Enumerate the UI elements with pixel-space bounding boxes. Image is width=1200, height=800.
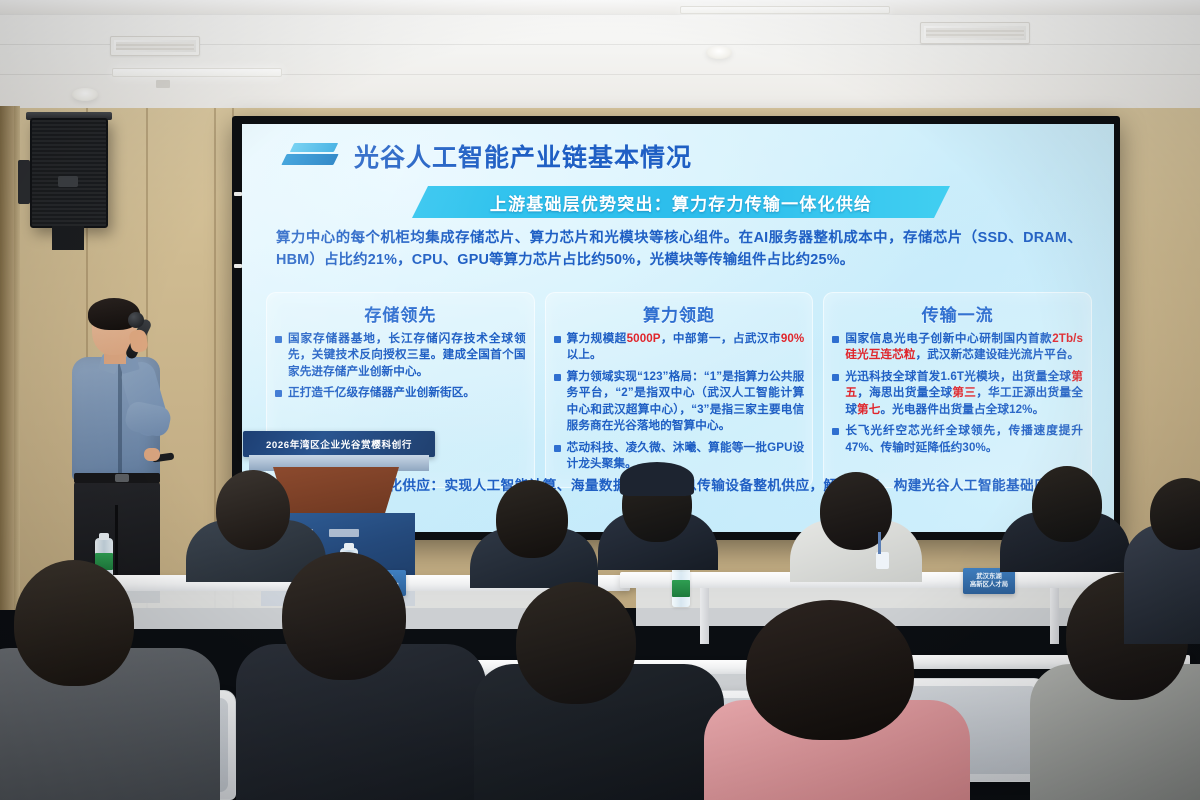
slide-bullet: 国家信息光电子创新中心研制国内首款2Tb/s硅光互连芯粒，武汉新芯建设硅光流片平… bbox=[832, 331, 1083, 364]
slide-lead-paragraph: 算力中心的每个机柜均集成存储芯片、算力芯片和光模块等核心组件。在AI服务器整机成… bbox=[276, 228, 1082, 272]
bullet-square-icon bbox=[554, 374, 561, 381]
highlighted-text: 2Tb/s bbox=[1052, 332, 1083, 345]
slide-bullet-text: 长飞光纤空芯光纤全球领先，传播速度提升47%、传输时延降低约30%。 bbox=[845, 423, 1083, 456]
loudspeaker-bracket bbox=[18, 160, 30, 204]
slide-column: 传输一流国家信息光电子创新中心研制国内首款2Tb/s硅光互连芯粒，武汉新芯建设硅… bbox=[823, 292, 1092, 488]
bullet-square-icon bbox=[832, 374, 839, 381]
loudspeaker-stand bbox=[52, 226, 84, 250]
ceiling-light-strip bbox=[680, 6, 890, 14]
slide-bullet: 算力规模超5000P，中部第一，占武汉市90%以上。 bbox=[554, 331, 805, 364]
podium-top-sign-text: 2026年湾区企业光谷赏樱科创行 bbox=[266, 437, 412, 451]
bullet-text-run: 以上。 bbox=[567, 348, 602, 361]
slide-column-heading: 传输一流 bbox=[832, 301, 1083, 326]
presenter-hand-with-clicker bbox=[144, 448, 160, 461]
bullet-square-icon bbox=[275, 390, 282, 397]
bullet-text-run: ，武汉新芯建设硅光流片平台。 bbox=[916, 348, 1080, 361]
highlighted-text: 第三 bbox=[952, 386, 976, 399]
bullet-text-run: 算力规模超 bbox=[567, 332, 627, 345]
slide-column: 算力领跑算力规模超5000P，中部第一，占武汉市90%以上。算力领域实现“123… bbox=[545, 292, 814, 488]
ceiling-smoke-detector bbox=[156, 80, 170, 88]
slide-bullet-text: 国家信息光电子创新中心研制国内首款2Tb/s硅光互连芯粒，武汉新芯建设硅光流片平… bbox=[845, 331, 1083, 364]
bullet-text-run: ，海思出货量全球 bbox=[857, 386, 952, 399]
slide-bullet-text: 国家存储器基地，长江存储闪存技术全球领先，关键技术反向授权三星。建成全国首个国家… bbox=[288, 331, 526, 380]
arrow-banner-icon bbox=[282, 143, 340, 169]
presenter-belt-buckle bbox=[115, 474, 129, 482]
bullet-square-icon bbox=[554, 336, 561, 343]
bullet-text-run: 算力领域实现“123”格局：“1”是指算力公共服务平台，“2”是指双中心（武汉人… bbox=[567, 370, 805, 432]
screen-clip bbox=[234, 192, 242, 196]
highlighted-text: 第七 bbox=[857, 403, 880, 416]
highlighted-text: 5000P bbox=[627, 332, 661, 345]
bullet-square-icon bbox=[832, 336, 839, 343]
slide-bullet-text: 算力规模超5000P，中部第一，占武汉市90%以上。 bbox=[567, 331, 805, 364]
slide-bullet: 算力领域实现“123”格局：“1”是指算力公共服务平台，“2”是指双中心（武汉人… bbox=[554, 369, 805, 435]
screen-clip bbox=[234, 264, 242, 268]
highlighted-text: 硅光互连芯粒 bbox=[845, 348, 915, 361]
ceiling bbox=[0, 0, 1200, 112]
placard-line-2: 高新区人才局 bbox=[970, 581, 1008, 589]
slide-title: 光谷人工智能产业链基本情况 bbox=[354, 138, 692, 174]
ceiling-downlight bbox=[72, 88, 98, 101]
ac-vent bbox=[920, 22, 1030, 44]
slide-bullet-text: 算力领域实现“123”格局：“1”是指算力公共服务平台，“2”是指双中心（武汉人… bbox=[567, 369, 805, 435]
bullet-text-run: 芯动科技、凌久微、沐曦、算能等一批GPU设计龙头聚集。 bbox=[567, 441, 805, 470]
slide-column-heading: 存储领先 bbox=[275, 301, 526, 326]
slide-column-heading: 算力领跑 bbox=[554, 301, 805, 326]
bullet-square-icon bbox=[554, 445, 561, 452]
bullet-text-run: ，中部第一，占武汉市 bbox=[661, 332, 781, 345]
ac-vent bbox=[110, 36, 200, 56]
bullet-text-run: 光迅科技全球首发1.6T光模块，出货量全球 bbox=[845, 370, 1071, 383]
table-leg bbox=[700, 588, 709, 644]
wall-corner bbox=[0, 106, 14, 610]
placard-line-1: 武汉东湖 bbox=[976, 573, 1002, 581]
bullet-text-run: 。光电器件出货量占全球12%。 bbox=[880, 403, 1044, 416]
slide-bullet: 正打造千亿级存储器产业创新街区。 bbox=[275, 385, 526, 401]
bullet-text-run: 正打造千亿级存储器产业创新街区。 bbox=[288, 386, 475, 399]
bullet-text-run: 长飞光纤空芯光纤全球领先，传播速度提升47%、传输时延降低约30%。 bbox=[845, 424, 1083, 453]
slide-subtitle-text: 上游基础层优势突出：算力存力传输一体化供给 bbox=[490, 190, 872, 215]
loudspeaker bbox=[30, 118, 108, 228]
slide-bullet-text: 光迅科技全球首发1.6T光模块，出货量全球第五，海思出货量全球第三，华工正源出货… bbox=[845, 369, 1083, 418]
slide-subtitle-banner: 上游基础层优势突出：算力存力传输一体化供给 bbox=[412, 186, 950, 218]
ceiling-light-strip bbox=[112, 68, 282, 77]
bullet-text-run: 国家信息光电子创新中心研制国内首款 bbox=[845, 332, 1052, 345]
water-bottle bbox=[672, 565, 690, 607]
ceiling-cove bbox=[0, 0, 1200, 14]
bullet-square-icon bbox=[275, 336, 282, 343]
ceiling-downlight bbox=[706, 46, 732, 59]
bullet-square-icon bbox=[832, 428, 839, 435]
table-leg bbox=[1050, 588, 1059, 644]
conference-photo-scene: 光谷人工智能产业链基本情况 上游基础层优势突出：算力存力传输一体化供给 算力中心… bbox=[0, 0, 1200, 800]
highlighted-text: 90% bbox=[781, 332, 805, 345]
slide-title-row: 光谷人工智能产业链基本情况 bbox=[282, 138, 692, 174]
slide-bullet: 长飞光纤空芯光纤全球领先，传播速度提升47%、传输时延降低约30%。 bbox=[832, 423, 1083, 456]
slide-bullet-text: 正打造千亿级存储器产业创新街区。 bbox=[288, 385, 475, 401]
microphone-capsule bbox=[128, 312, 144, 328]
podium-wood-panel bbox=[273, 467, 399, 517]
loudspeaker-badge bbox=[58, 176, 78, 187]
podium-top-sign: 2026年湾区企业光谷赏樱科创行 bbox=[243, 431, 435, 457]
bullet-text-run: 国家存储器基地，长江存储闪存技术全球领先，关键技术反向授权三星。建成全国首个国家… bbox=[288, 332, 526, 378]
slide-bullet: 光迅科技全球首发1.6T光模块，出货量全球第五，海思出货量全球第三，华工正源出货… bbox=[832, 369, 1083, 418]
slide-bullet: 国家存储器基地，长江存储闪存技术全球领先，关键技术反向授权三星。建成全国首个国家… bbox=[275, 331, 526, 380]
